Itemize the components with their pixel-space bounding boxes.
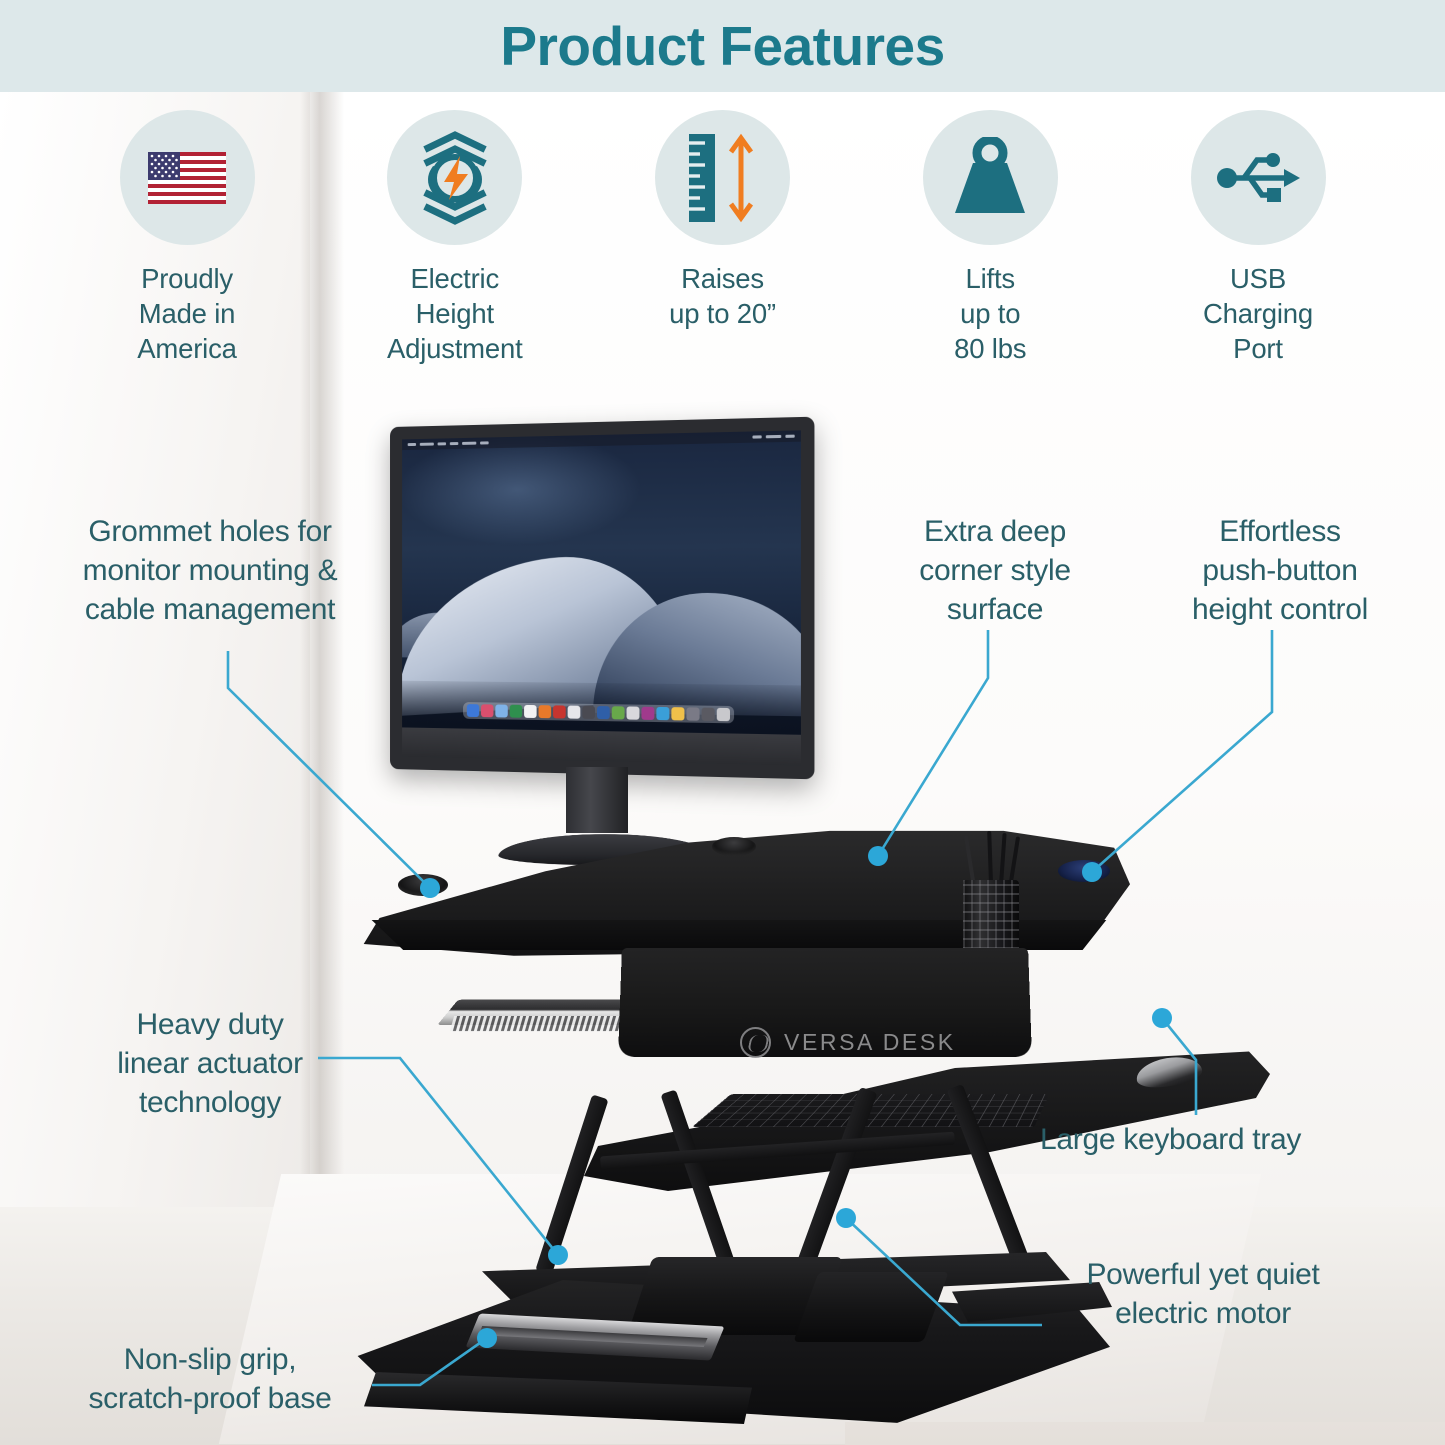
- dock-icon: [717, 708, 730, 721]
- dock-icon: [539, 705, 552, 718]
- weight-badge: [923, 110, 1058, 245]
- dock-icon: [510, 705, 522, 718]
- callout-push-button: Effortlesspush-buttonheight control: [1155, 512, 1405, 629]
- dock-icon: [597, 706, 610, 719]
- usb-circle-terminal: [1266, 153, 1280, 167]
- monitor-bezel: [390, 417, 814, 780]
- brand-logo: VERSA DESK: [740, 1027, 956, 1058]
- feature-raises: Raisesup to 20”: [598, 110, 848, 367]
- callout-keyboard-tray: Large keyboard tray: [1040, 1120, 1370, 1159]
- height-control-button[interactable]: [1058, 860, 1110, 882]
- feature-label: ProudlyMade inAmerica: [137, 262, 236, 367]
- dock-icon: [641, 707, 654, 720]
- usb-round-terminal: [1217, 168, 1237, 188]
- feature-lifts: Liftsup to80 lbs: [865, 110, 1115, 367]
- dock-icon: [481, 704, 493, 717]
- grommet-hole-center: [712, 837, 756, 856]
- feature-made-in-america: ProudlyMade inAmerica: [62, 110, 312, 367]
- background-panel-lower-right: [845, 1422, 1445, 1445]
- menu-item: [480, 441, 489, 444]
- electric-motor-block: [793, 1272, 948, 1342]
- electric-height-badge: [387, 110, 522, 245]
- usb-icon: [1210, 147, 1306, 209]
- feature-label: ElectricHeightAdjustment: [387, 262, 523, 367]
- menu-item: [420, 443, 434, 446]
- pen-cup: [963, 880, 1019, 958]
- callout-deep-surface: Extra deepcorner stylesurface: [895, 512, 1095, 629]
- status-item: [752, 435, 761, 438]
- feature-label: Raisesup to 20”: [669, 262, 776, 332]
- weight-icon: [947, 137, 1033, 219]
- dock-icon: [671, 707, 684, 720]
- grommet-hole-left: [398, 874, 448, 896]
- menu-item: [408, 443, 416, 446]
- ruler-badge: [655, 110, 790, 245]
- menu-bar-status-items: [752, 435, 794, 439]
- ruler-arrow-icon: [679, 130, 767, 226]
- menu-item: [438, 442, 446, 445]
- usb-square-terminal: [1267, 188, 1281, 202]
- feature-label: USBChargingPort: [1203, 262, 1313, 367]
- status-item: [766, 435, 781, 438]
- menu-item: [450, 442, 458, 445]
- versa-desk-logo-icon: [740, 1027, 771, 1058]
- dock-icon: [686, 707, 699, 720]
- feature-usb: USBChargingPort: [1133, 110, 1383, 367]
- dock-icon: [702, 708, 715, 721]
- callout-linear-actuator: Heavy dutylinear actuatortechnology: [95, 1005, 325, 1122]
- feature-electric-height: ElectricHeightAdjustment: [330, 110, 580, 367]
- electric-height-icon: [414, 130, 496, 226]
- dock-icon: [612, 706, 625, 719]
- monitor-stand-neck: [566, 767, 628, 833]
- monitor-screen: [402, 430, 801, 734]
- usa-flag-badge: [120, 110, 255, 245]
- dock-icon: [627, 706, 640, 719]
- screen-menu-bar: [402, 430, 801, 450]
- menu-item: [462, 442, 476, 445]
- callout-electric-motor: Powerful yet quietelectric motor: [1048, 1255, 1358, 1333]
- usa-flag-icon: [148, 152, 226, 204]
- dock-icon: [553, 705, 566, 718]
- usb-arrow-terminal: [1284, 169, 1300, 187]
- dock-icon: [467, 704, 479, 717]
- dock-icon: [524, 705, 537, 718]
- dock-icon: [656, 707, 669, 720]
- pen-cup-mesh: [963, 880, 1019, 958]
- callout-grommet-holes: Grommet holes formonitor mounting &cable…: [40, 512, 380, 629]
- menu-bar-left-items: [408, 441, 489, 446]
- callout-non-slip-base: Non-slip grip,scratch-proof base: [45, 1340, 375, 1418]
- feature-icon-row: ProudlyMade inAmerica ElectricHeightAdju…: [0, 110, 1445, 367]
- feature-label: Liftsup to80 lbs: [954, 262, 1026, 367]
- page-title: Product Features: [500, 19, 944, 74]
- header-band: Product Features: [0, 0, 1445, 92]
- usb-badge: [1191, 110, 1326, 245]
- dock-icon: [582, 706, 595, 719]
- dock-icon: [495, 704, 507, 717]
- dock-icon: [568, 706, 581, 719]
- brand-name: VERSA DESK: [784, 1029, 956, 1056]
- status-item: [785, 435, 794, 438]
- monitor-chin: [402, 727, 801, 765]
